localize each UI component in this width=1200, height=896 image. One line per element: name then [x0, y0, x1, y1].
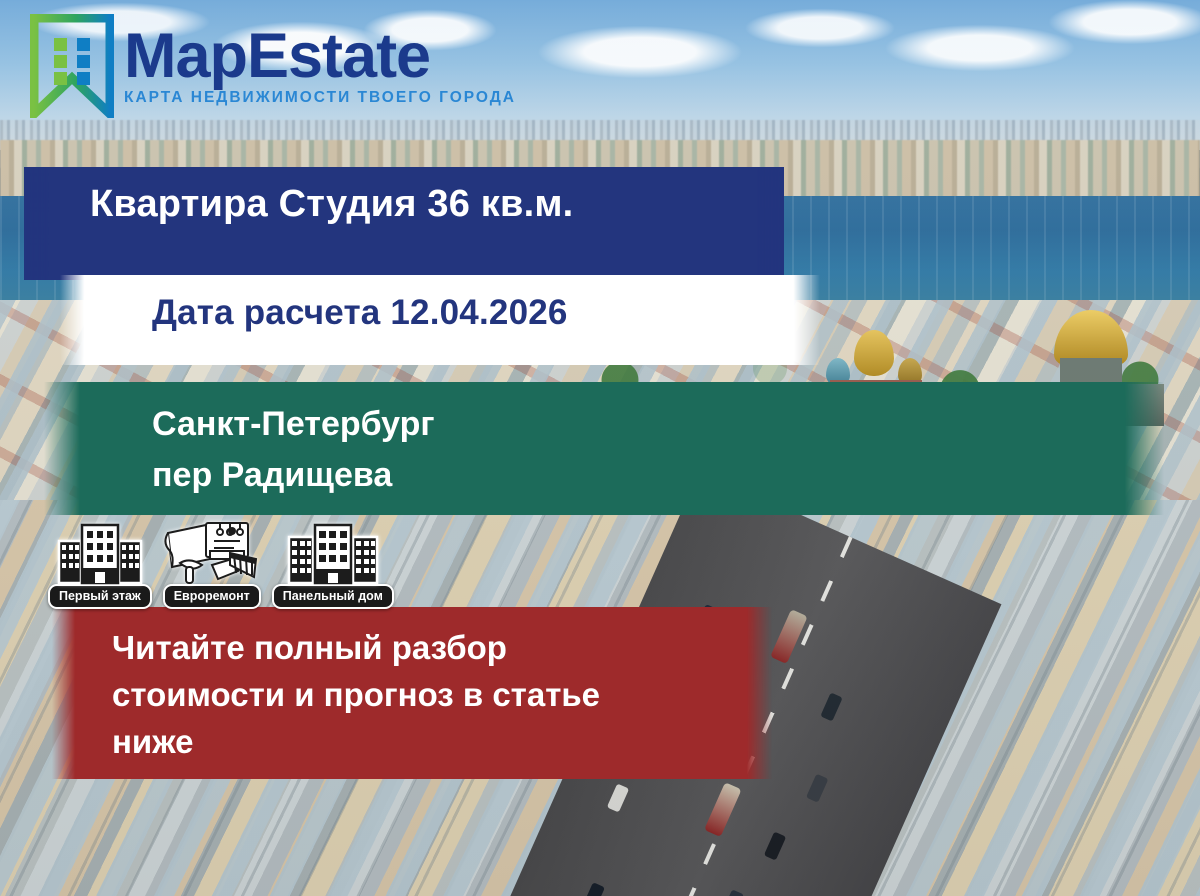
brand-tagline: КАРТА НЕДВИЖИМОСТИ ТВОЕГО ГОРОДА	[124, 89, 516, 107]
cta-text-block: Читайте полный разбор стоимости и прогно…	[112, 624, 752, 765]
badge-panel-house[interactable]: Панельный дом	[272, 523, 394, 609]
calculation-date-text: Дата расчета 12.04.2026	[152, 293, 568, 333]
cta-line-2: стоимости и прогноз в статье	[112, 671, 752, 718]
brand-logo[interactable]: MapEstate КАРТА НЕДВИЖИМОСТИ ТВОЕГО ГОРО…	[30, 14, 516, 118]
location-street: пер Радищева	[152, 450, 435, 501]
brand-name: MapEstate	[124, 26, 516, 86]
brand-wordmark: MapEstate КАРТА НЕДВИЖИМОСТИ ТВОЕГО ГОРО…	[124, 26, 516, 107]
property-title-text: Квартира Студия 36 кв.м.	[90, 183, 573, 226]
apartment-building-icon	[57, 523, 143, 590]
cta-line-1: Читайте полный разбор	[112, 624, 752, 671]
location-city: Санкт-Петербург	[152, 399, 435, 450]
renovation-tools-icon	[160, 519, 264, 590]
bookmark-building-icon	[30, 14, 114, 118]
cta-line-3: ниже	[112, 718, 752, 765]
panel-house-icon	[287, 523, 379, 590]
promo-poster: MapEstate КАРТА НЕДВИЖИМОСТИ ТВОЕГО ГОРО…	[0, 0, 1200, 896]
feature-badges: Первый этаж	[48, 519, 394, 609]
badge-first-floor[interactable]: Первый этаж	[48, 523, 152, 609]
badge-euro-renovation[interactable]: Евроремонт	[160, 519, 264, 609]
location-text-block: Санкт-Петербург пер Радищева	[152, 399, 435, 501]
